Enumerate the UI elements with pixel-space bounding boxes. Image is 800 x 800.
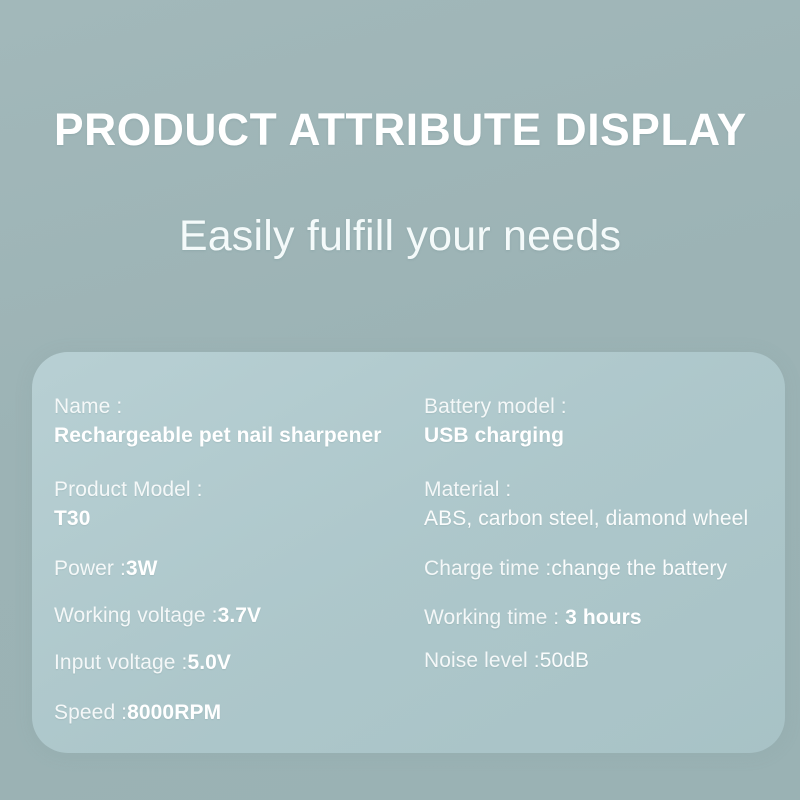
spec-column-left: Name :Rechargeable pet nail sharpenerPro…	[54, 352, 429, 753]
spec-label: Working time :	[424, 606, 565, 629]
page-subtitle: Easily fulfill your needs	[0, 212, 800, 261]
spec-value: Rechargeable pet nail sharpener	[54, 425, 382, 446]
spec-value: 3 hours	[565, 606, 642, 629]
spec-row: Input voltage :5.0V	[54, 652, 231, 673]
spec-row: Name :Rechargeable pet nail sharpener	[54, 396, 382, 446]
spec-value: change the battery	[551, 557, 727, 580]
spec-value: T30	[54, 508, 203, 529]
spec-label: Product Model :	[54, 479, 203, 500]
spec-row: Power :3W	[54, 558, 158, 579]
product-attribute-display-page: PRODUCT ATTRIBUTE DISPLAY Easily fulfill…	[0, 0, 800, 800]
spec-label: Power :	[54, 557, 126, 580]
spec-value: USB charging	[424, 425, 567, 446]
spec-row: Battery model :USB charging	[424, 396, 567, 446]
spec-label: Working voltage :	[54, 604, 218, 627]
spec-value: 3.7V	[218, 604, 262, 627]
spec-label: Material :	[424, 479, 748, 500]
spec-row: Material :ABS, carbon steel, diamond whe…	[424, 479, 748, 529]
spec-label: Input voltage :	[54, 651, 187, 674]
spec-value: 50dB	[540, 649, 589, 672]
spec-row: Product Model :T30	[54, 479, 203, 529]
spec-row: Noise level :50dB	[424, 650, 589, 671]
spec-value: 8000RPM	[127, 701, 221, 724]
spec-column-right: Battery model :USB chargingMaterial :ABS…	[424, 352, 779, 753]
spec-value: 3W	[126, 557, 158, 580]
spec-label: Battery model :	[424, 396, 567, 417]
spec-value: ABS, carbon steel, diamond wheel	[424, 508, 748, 529]
spec-row: Working time : 3 hours	[424, 607, 642, 628]
spec-label: Noise level :	[424, 649, 540, 672]
spec-row: Charge time :change the battery	[424, 558, 727, 579]
spec-row: Working voltage :3.7V	[54, 605, 261, 626]
spec-label: Charge time :	[424, 557, 551, 580]
spec-value: 5.0V	[187, 651, 231, 674]
spec-label: Name :	[54, 396, 382, 417]
page-title: PRODUCT ATTRIBUTE DISPLAY	[54, 104, 759, 156]
spec-label: Speed :	[54, 701, 127, 724]
spec-row: Speed :8000RPM	[54, 702, 221, 723]
specification-panel: Name :Rechargeable pet nail sharpenerPro…	[32, 352, 785, 753]
